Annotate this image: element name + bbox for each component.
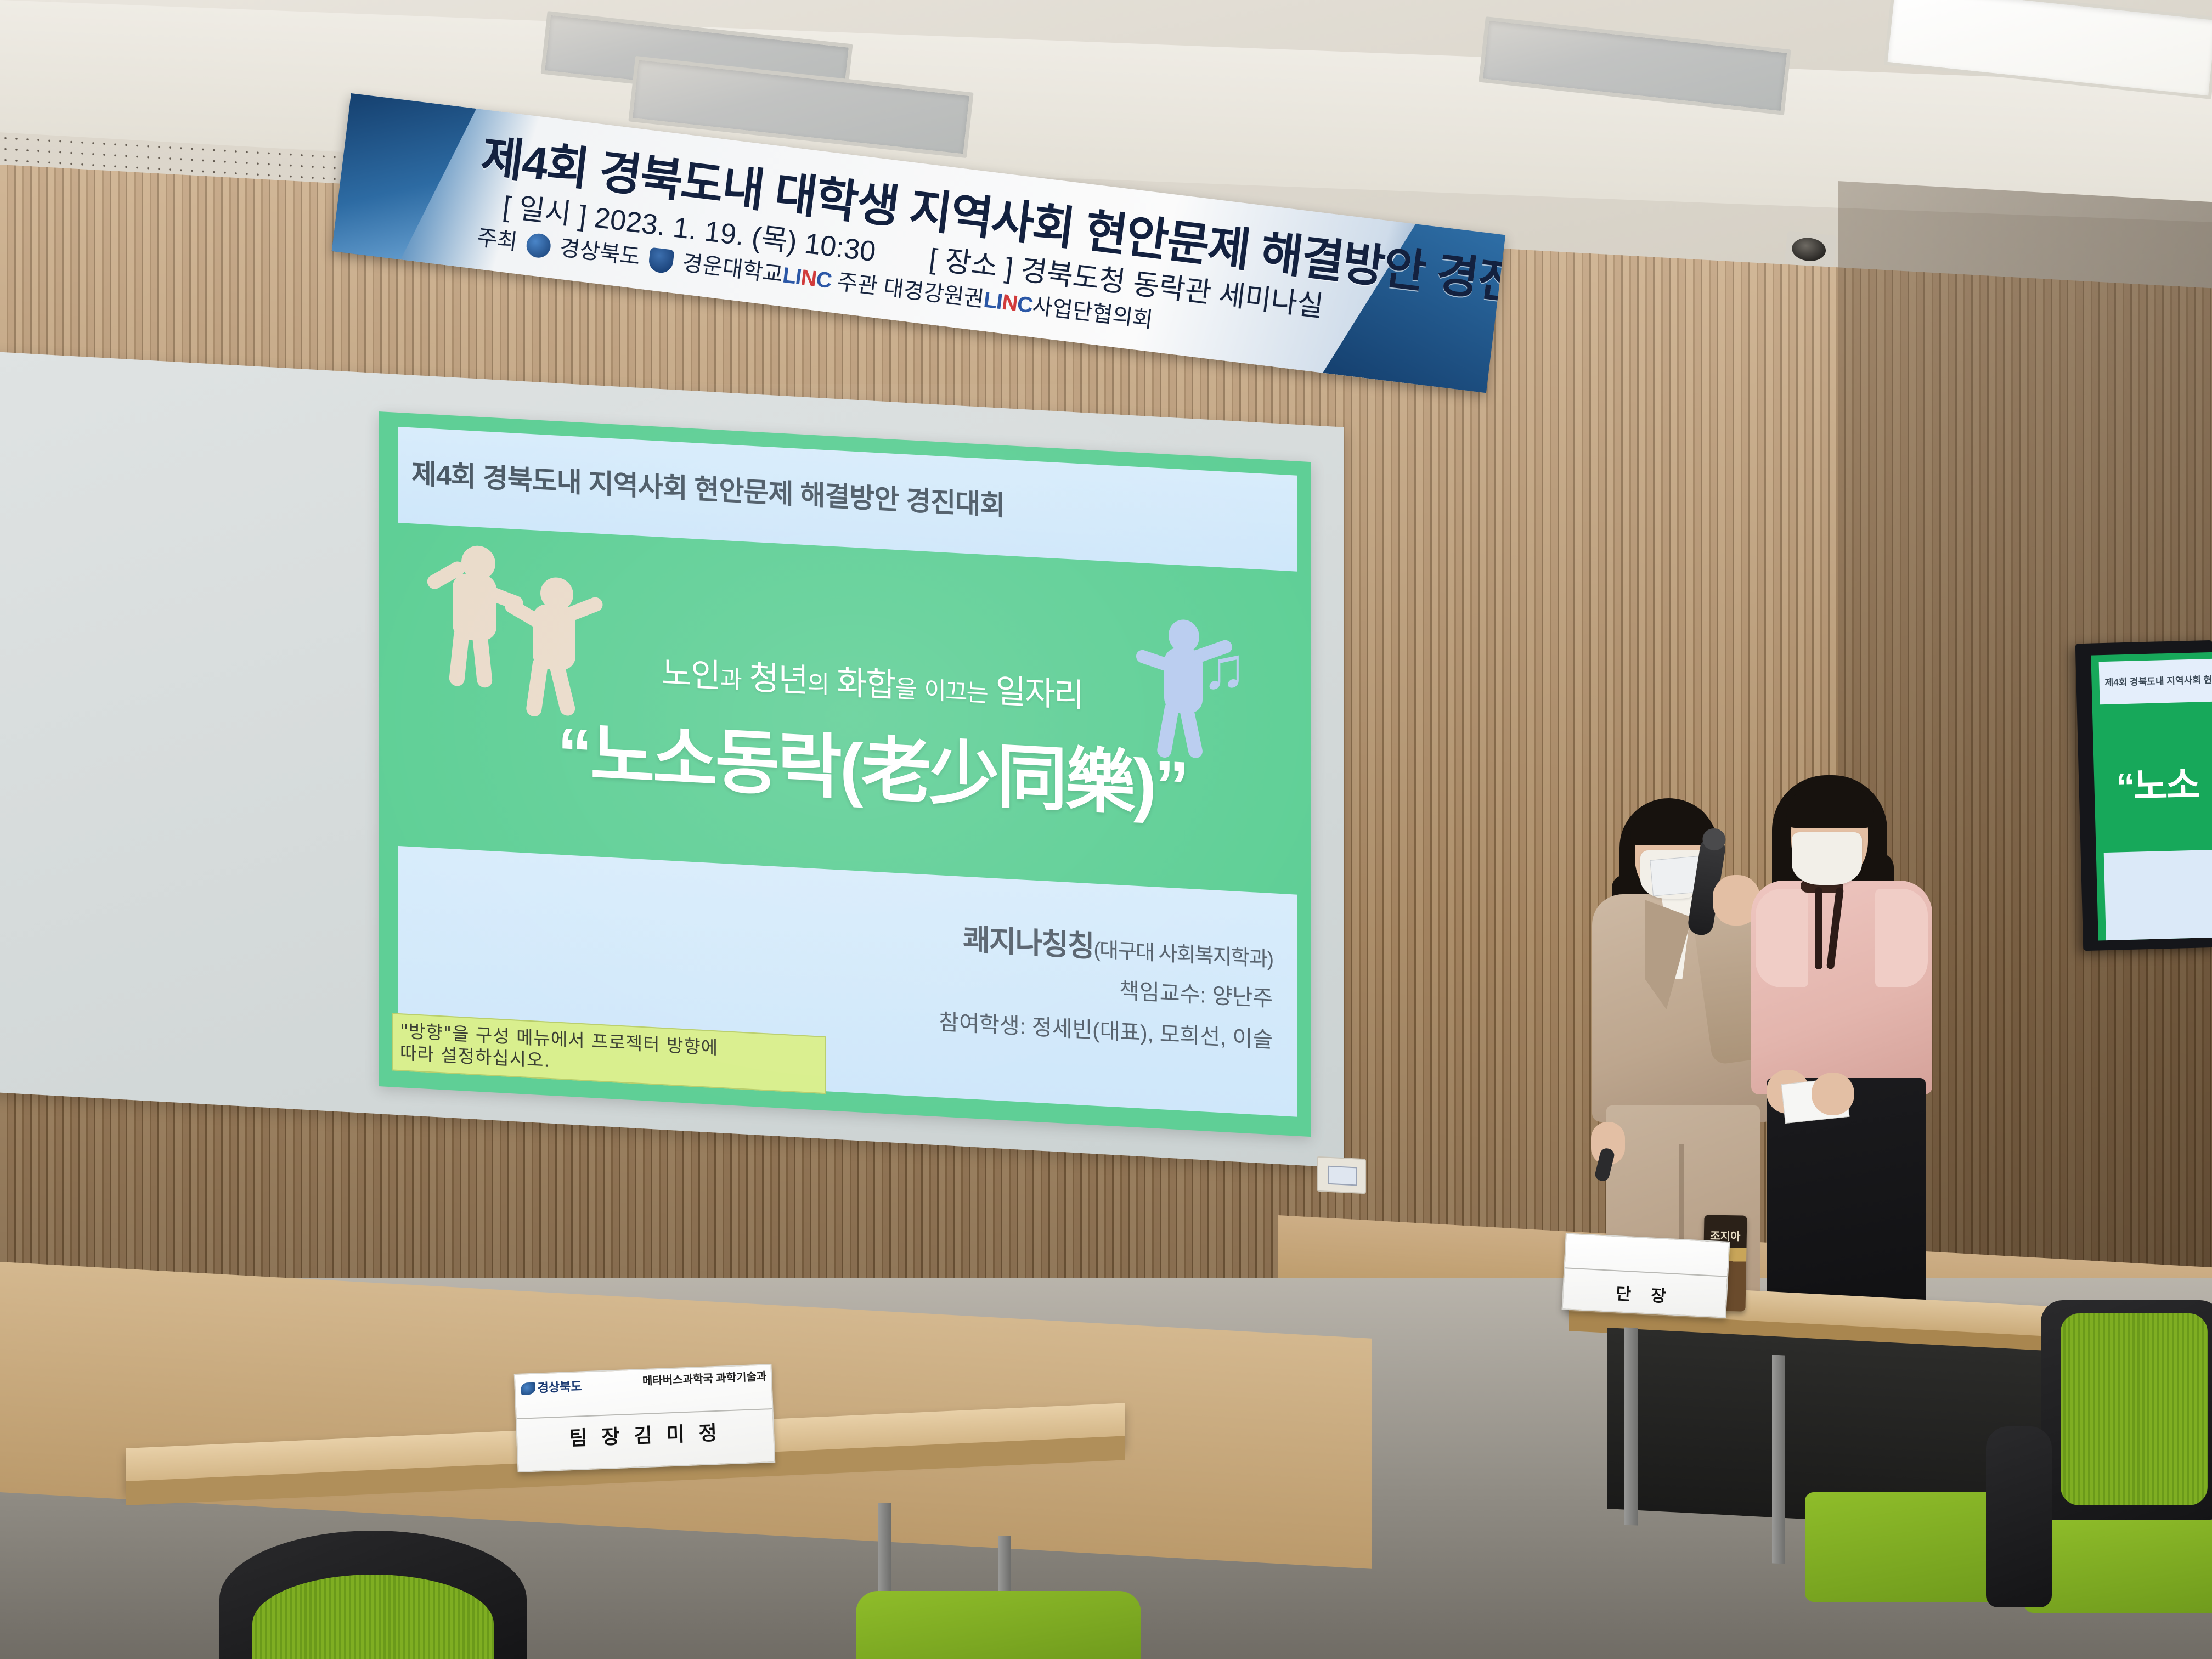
gyeongsangbukdo-logo-icon [525, 232, 552, 259]
blouse-ruffle-right [1875, 889, 1928, 988]
banner-host-org1: 경상북도 [558, 236, 641, 270]
tagline-particle-1: 과 [720, 666, 741, 694]
tagline-word-2: 청년 [749, 659, 807, 699]
chair-mesh [2061, 1313, 2208, 1505]
tv-header-text: 제4회 경북도내 지역사회 현 [2104, 672, 2212, 689]
nameplate-org-text: 경상북도 [537, 1379, 582, 1395]
chair-seat [856, 1591, 1141, 1659]
nameplate-stage-name: 단 장 [1563, 1277, 1726, 1310]
linc-wordmark-icon: LINC [781, 263, 833, 294]
tagline-word-4: 일자리 [996, 673, 1084, 714]
tv-screen: 제4회 경북도내 지역사회 현 “노소 [2091, 652, 2212, 941]
chair-front-right [856, 1591, 1141, 1659]
linc-wordmark-icon-2: LINC [982, 288, 1034, 319]
blouse-ruffle-left [1756, 889, 1808, 988]
side-tv-monitor: 제4회 경북도내 지역사회 현 “노소 [2075, 640, 2212, 951]
nameplate-stage: 단 장 [1562, 1233, 1730, 1318]
conference-room-photo: 제4회 경북도내 대학생 지역사회 현안문제 해결방안 경진대회 [ 일시 ] … [0, 0, 2212, 1659]
tv-quote-mark: “ [2116, 766, 2134, 808]
banner-left-wedge [332, 93, 477, 267]
slide-team-name: 쾌지나칭칭 [963, 923, 1093, 963]
table-leg [1772, 1355, 1785, 1564]
tv-footer-band [2104, 849, 2212, 940]
kyungwoon-university-logo-icon [648, 247, 675, 274]
tagline-word-1: 노인 [662, 654, 720, 695]
chair-seat [2024, 1520, 2212, 1613]
face-mask [1792, 832, 1862, 885]
banner-host-label: 주최 [476, 225, 518, 255]
nameplate-name: 팀 장 김 미 정 [517, 1415, 774, 1453]
chair-front-left [219, 1531, 527, 1659]
nameplate-front-row-bottom: 팀 장 김 미 정 [517, 1409, 774, 1471]
gyeongsangbukdo-logo-icon-small [521, 1383, 535, 1395]
table-leg [1624, 1327, 1638, 1525]
slide-team-dept: (대구대 사회복지학과) [1093, 939, 1273, 972]
presenter-assisting [1739, 771, 1959, 1306]
tv-header-band: 제4회 경북도내 지역사회 현 [2099, 659, 2212, 705]
nameplate-org: 경상북도 [521, 1376, 582, 1396]
hand-right [1812, 1073, 1854, 1115]
tv-title-text: “노소 [2115, 754, 2199, 811]
banner-host-org2: 경운대학교 [681, 251, 784, 287]
chair-center [1805, 1426, 2035, 1659]
tagline-particle-2: 의 [808, 670, 828, 698]
projected-slide: 제4회 경북도내 지역사회 현안문제 해결방안 경진대회 [379, 411, 1311, 1137]
chair-backrest [1986, 1426, 2052, 1607]
tagline-word-3: 화합 [837, 664, 895, 704]
tagline-verb: 이끄는 [924, 677, 987, 707]
music-note-icon: ♫ [1201, 637, 1247, 699]
nameplate-front: 경상북도 메타버스과학국 과학기술과 팀 장 김 미 정 [514, 1364, 776, 1472]
ceiling-speaker-icon [1784, 230, 1837, 269]
nameplate-stage-row-bottom: 단 장 [1563, 1268, 1727, 1317]
banner-manage-org: 대경강원권 [882, 275, 985, 312]
neck-ribbon [1815, 887, 1822, 969]
tagline-particle-3: 을 [895, 675, 916, 703]
banner-manage-label: 주관 [836, 270, 879, 299]
wall-outlet-icon [1317, 1156, 1366, 1194]
tv-title-fragment: 노소 [2133, 764, 2199, 808]
nameplate-dept: 메타버스과학국 과학기술과 [642, 1367, 766, 1388]
